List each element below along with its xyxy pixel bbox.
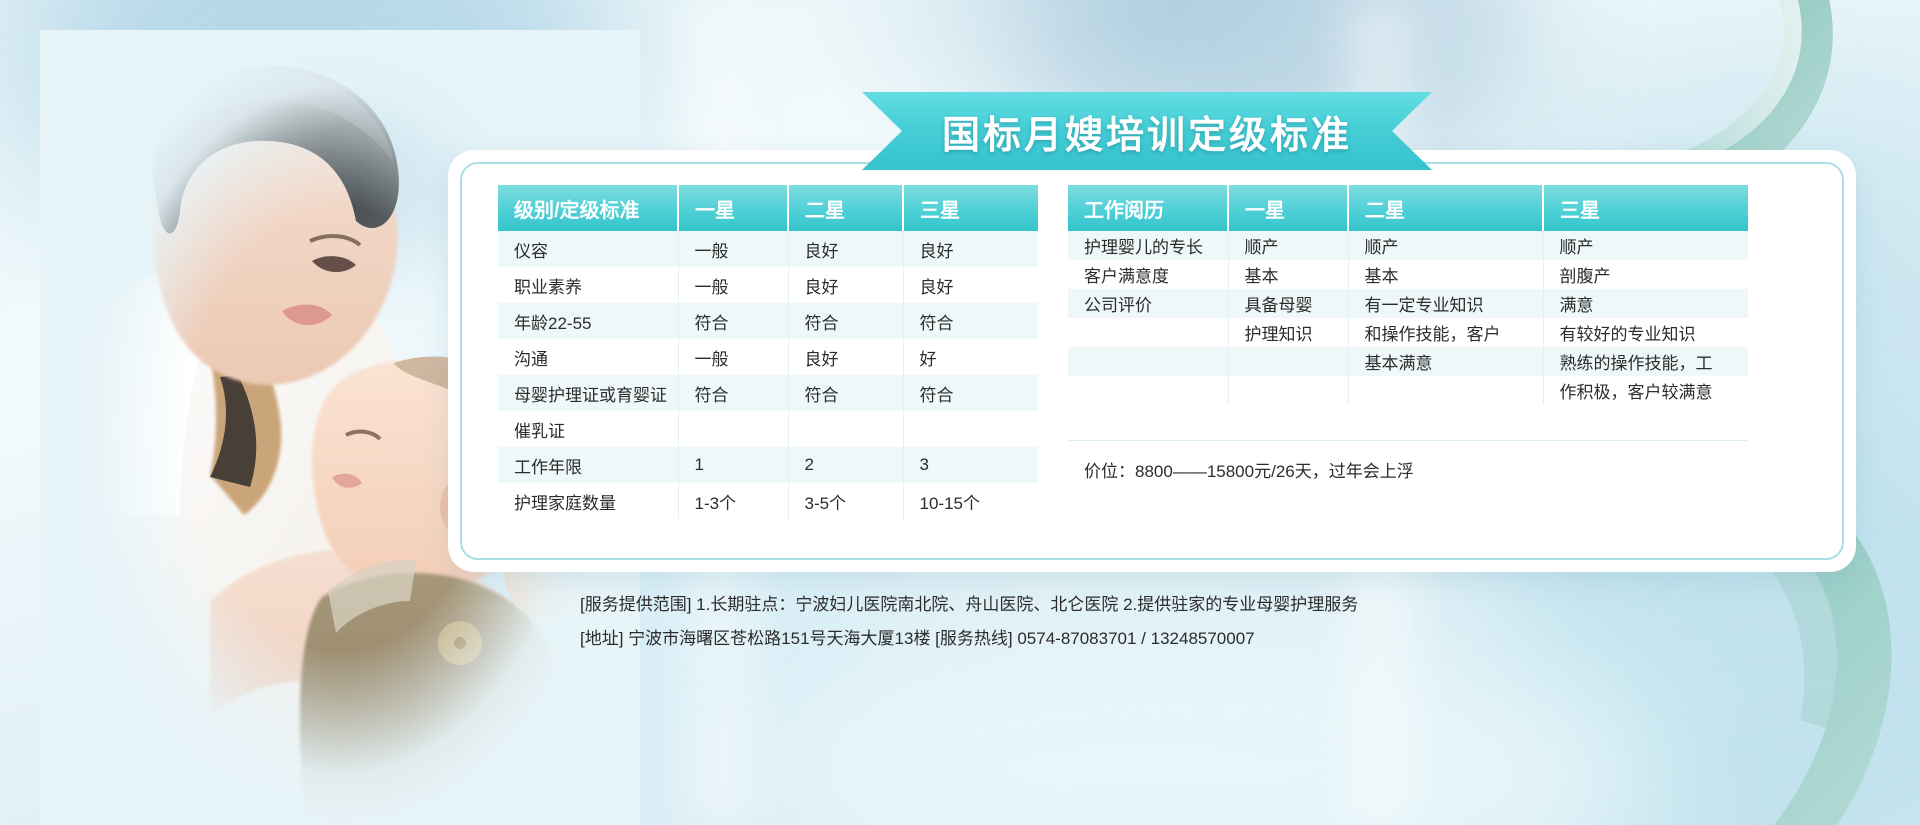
cell-criteria: 工作年限 (498, 447, 678, 483)
cell-experience: 护理婴儿的专长 (1068, 231, 1228, 260)
title-ribbon-banner: 国标月嫂培训定级标准 (862, 92, 1432, 170)
cell-one-star (1228, 347, 1348, 376)
cell-three-star: 3 (903, 447, 1038, 483)
table-right-header-experience: 工作阅历 (1068, 185, 1228, 231)
cell-two-star: 2 (788, 447, 903, 483)
cell-two-star: 基本满意 (1348, 347, 1543, 376)
promo-banner-stage: 级别/定级标准 一星 二星 三星 仪容 一般 良好 良好 职业素养 一般 良好 (0, 0, 1920, 825)
cell-criteria: 母婴护理证或育婴证 (498, 375, 678, 411)
table-row: 年龄22-55 符合 符合 符合 (498, 303, 1038, 339)
table-row: 仪容 一般 良好 良好 (498, 231, 1038, 267)
cell-three-star: 作积极，客户较满意 (1543, 376, 1748, 405)
table-right-header-two-star: 二星 (1348, 185, 1543, 231)
cell-two-star: 良好 (788, 231, 903, 267)
table-row: 工作年限 1 2 3 (498, 447, 1038, 483)
cell-one-star (678, 411, 788, 447)
table-row: 沟通 一般 良好 好 (498, 339, 1038, 375)
cell-one-star: 1-3个 (678, 483, 788, 519)
table-left-header-three-star: 三星 (903, 185, 1038, 231)
cell-three-star: 顺产 (1543, 231, 1748, 260)
cell-one-star (1228, 376, 1348, 405)
table-right-header-three-star: 三星 (1543, 185, 1748, 231)
price-note: 价位：8800——15800元/26天，过年会上浮 (1068, 440, 1748, 482)
grading-criteria-table: 级别/定级标准 一星 二星 三星 仪容 一般 良好 良好 职业素养 一般 良好 (498, 185, 1038, 519)
cell-two-star: 基本 (1348, 260, 1543, 289)
cell-one-star: 符合 (678, 303, 788, 339)
cell-three-star: 熟练的操作技能，工 (1543, 347, 1748, 376)
cell-two-star: 良好 (788, 339, 903, 375)
cell-criteria: 护理家庭数量 (498, 483, 678, 519)
cell-one-star: 顺产 (1228, 231, 1348, 260)
cell-criteria: 催乳证 (498, 411, 678, 447)
cell-experience (1068, 376, 1228, 405)
table-left-header-one-star: 一星 (678, 185, 788, 231)
cell-three-star: 10-15个 (903, 483, 1038, 519)
table-left-header-criteria: 级别/定级标准 (498, 185, 678, 231)
table-row: 护理家庭数量 1-3个 3-5个 10-15个 (498, 483, 1038, 519)
table-left-header-two-star: 二星 (788, 185, 903, 231)
cell-three-star: 满意 (1543, 289, 1748, 318)
cell-criteria: 年龄22-55 (498, 303, 678, 339)
table-row: 作积极，客户较满意 (1068, 376, 1748, 405)
work-experience-table: 工作阅历 一星 二星 三星 护理婴儿的专长 顺产 顺产 顺产 客户满意度 基本 … (1068, 185, 1748, 405)
cell-three-star: 符合 (903, 303, 1038, 339)
cell-three-star: 符合 (903, 375, 1038, 411)
cell-three-star: 剖腹产 (1543, 260, 1748, 289)
cell-one-star: 一般 (678, 339, 788, 375)
cell-criteria: 沟通 (498, 339, 678, 375)
table-row: 客户满意度 基本 基本 剖腹产 (1068, 260, 1748, 289)
cell-two-star (1348, 376, 1543, 405)
footer-service-scope: [服务提供范围] 1.长期驻点：宁波妇儿医院南北院、舟山医院、北仑医院 2.提供… (580, 588, 1780, 622)
cell-two-star: 良好 (788, 267, 903, 303)
cell-criteria: 仪容 (498, 231, 678, 267)
footer-address-hotline: [地址] 宁波市海曙区苍松路151号天海大厦13楼 [服务热线] 0574-87… (580, 622, 1780, 656)
page-title: 国标月嫂培训定级标准 (942, 104, 1352, 159)
cell-experience (1068, 347, 1228, 376)
cell-experience: 客户满意度 (1068, 260, 1228, 289)
cell-one-star: 具备母婴 (1228, 289, 1348, 318)
cell-two-star: 符合 (788, 303, 903, 339)
cell-three-star: 好 (903, 339, 1038, 375)
table-header-row: 工作阅历 一星 二星 三星 (1068, 185, 1748, 231)
table-row: 职业素养 一般 良好 良好 (498, 267, 1038, 303)
table-row: 公司评价 具备母婴 有一定专业知识 满意 (1068, 289, 1748, 318)
cell-three-star: 有较好的专业知识 (1543, 318, 1748, 347)
cell-three-star (903, 411, 1038, 447)
cell-two-star (788, 411, 903, 447)
table-row: 护理知识 和操作技能，客户 有较好的专业知识 (1068, 318, 1748, 347)
table-header-row: 级别/定级标准 一星 二星 三星 (498, 185, 1038, 231)
cell-experience: 公司评价 (1068, 289, 1228, 318)
cell-one-star: 基本 (1228, 260, 1348, 289)
table-row: 催乳证 (498, 411, 1038, 447)
table-row: 母婴护理证或育婴证 符合 符合 符合 (498, 375, 1038, 411)
cell-two-star: 顺产 (1348, 231, 1543, 260)
footer-info: [服务提供范围] 1.长期驻点：宁波妇儿医院南北院、舟山医院、北仑医院 2.提供… (580, 588, 1780, 656)
cell-three-star: 良好 (903, 231, 1038, 267)
cell-two-star: 3-5个 (788, 483, 903, 519)
cell-one-star: 一般 (678, 267, 788, 303)
cell-one-star: 一般 (678, 231, 788, 267)
cell-criteria: 职业素养 (498, 267, 678, 303)
cell-two-star: 有一定专业知识 (1348, 289, 1543, 318)
cell-one-star: 符合 (678, 375, 788, 411)
cell-one-star: 护理知识 (1228, 318, 1348, 347)
content-card: 级别/定级标准 一星 二星 三星 仪容 一般 良好 良好 职业素养 一般 良好 (448, 150, 1856, 572)
cell-one-star: 1 (678, 447, 788, 483)
cell-three-star: 良好 (903, 267, 1038, 303)
cell-two-star: 符合 (788, 375, 903, 411)
cell-two-star: 和操作技能，客户 (1348, 318, 1543, 347)
table-right-header-one-star: 一星 (1228, 185, 1348, 231)
table-row: 基本满意 熟练的操作技能，工 (1068, 347, 1748, 376)
table-row: 护理婴儿的专长 顺产 顺产 顺产 (1068, 231, 1748, 260)
cell-experience (1068, 318, 1228, 347)
